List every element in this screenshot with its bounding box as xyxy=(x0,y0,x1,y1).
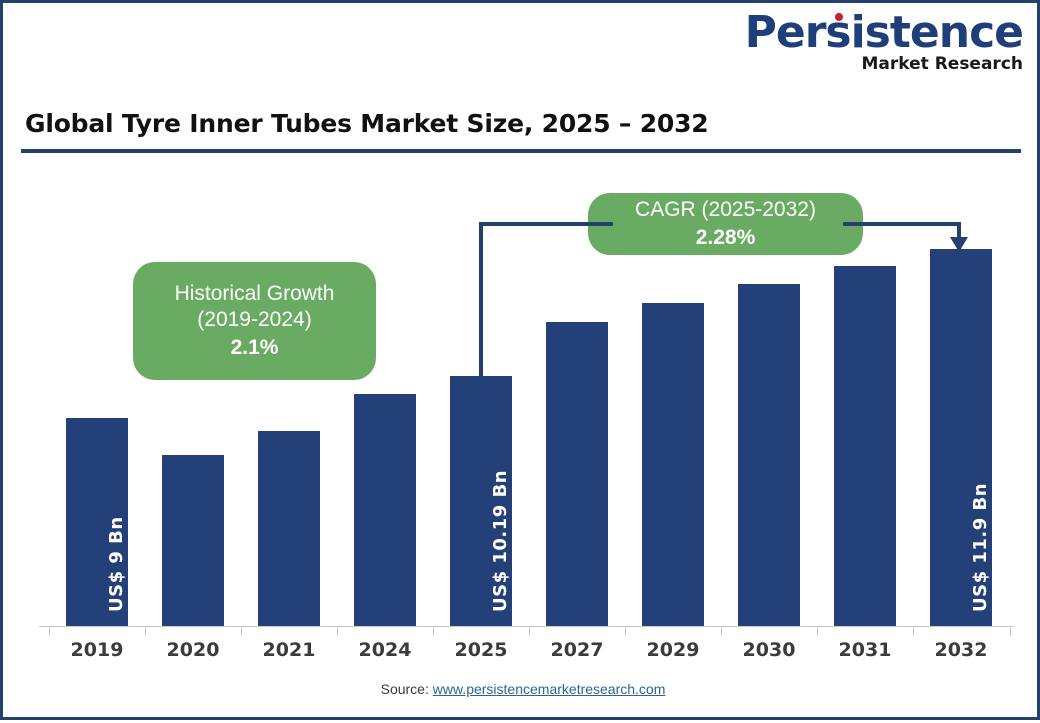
x-tick-2025 xyxy=(433,626,434,636)
title-divider xyxy=(21,149,1021,153)
bar-2019[interactable] xyxy=(66,418,128,626)
chart-page: Persistence Market Research Global Tyre … xyxy=(0,0,1040,720)
x-axis-label-2030: 2030 xyxy=(724,639,814,661)
x-axis-label-2027: 2027 xyxy=(532,639,622,661)
cagr-connector-vertical xyxy=(479,222,483,378)
x-axis-label-2032: 2032 xyxy=(916,639,1006,661)
cagr-callout: CAGR (2025-2032) 2.28% xyxy=(588,193,863,255)
x-tick-2031 xyxy=(817,626,818,636)
bar-2029[interactable] xyxy=(642,303,704,626)
source-line: Source: www.persistencemarketresearch.co… xyxy=(3,681,1040,697)
x-axis-label-2031: 2031 xyxy=(820,639,910,661)
source-link[interactable]: www.persistencemarketresearch.com xyxy=(433,681,666,697)
x-tick-2029 xyxy=(625,626,626,636)
bar-2021[interactable] xyxy=(258,431,320,626)
historical-growth-line1: Historical Growth xyxy=(175,281,335,307)
historical-growth-callout: Historical Growth (2019-2024) 2.1% xyxy=(133,262,376,380)
bar-2032[interactable] xyxy=(930,249,992,626)
x-tick-end xyxy=(1010,626,1011,636)
brand-dot-icon xyxy=(835,13,843,21)
bar-value-label-2025: US$ 10.19 Bn xyxy=(490,470,511,612)
bar-2027[interactable] xyxy=(546,322,608,626)
x-tick-2024 xyxy=(337,626,338,636)
bar-2024[interactable] xyxy=(354,394,416,626)
bar-value-label-2019: US$ 9 Bn xyxy=(106,516,127,612)
historical-growth-line2: (2019-2024) xyxy=(197,307,311,333)
x-tick-2021 xyxy=(241,626,242,636)
brand-tagline: Market Research xyxy=(745,56,1023,73)
x-axis-line xyxy=(39,626,1014,627)
bar-2030[interactable] xyxy=(738,284,800,626)
x-axis-label-2025: 2025 xyxy=(436,639,526,661)
brand-logo: Persistence Market Research xyxy=(745,11,1023,73)
historical-growth-value: 2.1% xyxy=(231,335,279,361)
x-axis-label-2029: 2029 xyxy=(628,639,718,661)
x-tick-2032 xyxy=(913,626,914,636)
cagr-line1: CAGR (2025-2032) xyxy=(635,197,816,223)
bar-2025[interactable] xyxy=(450,376,512,626)
x-axis-label-2020: 2020 xyxy=(148,639,238,661)
source-prefix: Source: xyxy=(381,681,429,697)
x-tick-2027 xyxy=(529,626,530,636)
cagr-value: 2.28% xyxy=(696,225,756,251)
brand-name: Persistence xyxy=(745,11,1023,55)
cagr-connector-horizontal xyxy=(479,222,613,226)
x-axis-label-2021: 2021 xyxy=(244,639,334,661)
brand-name-text: Persistence xyxy=(745,7,1023,58)
x-tick-2030 xyxy=(721,626,722,636)
x-axis-label-2019: 2019 xyxy=(52,639,142,661)
page-title: Global Tyre Inner Tubes Market Size, 202… xyxy=(25,109,709,138)
bar-value-label-2032: US$ 11.9 Bn xyxy=(970,483,991,612)
x-tick-2020 xyxy=(145,626,146,636)
x-tick-2019 xyxy=(49,626,50,636)
cagr-arrow-head-icon xyxy=(950,237,968,252)
x-axis-label-2024: 2024 xyxy=(340,639,430,661)
bar-2020[interactable] xyxy=(162,455,224,626)
bar-2031[interactable] xyxy=(834,266,896,626)
cagr-arrow-horizontal xyxy=(843,222,961,226)
